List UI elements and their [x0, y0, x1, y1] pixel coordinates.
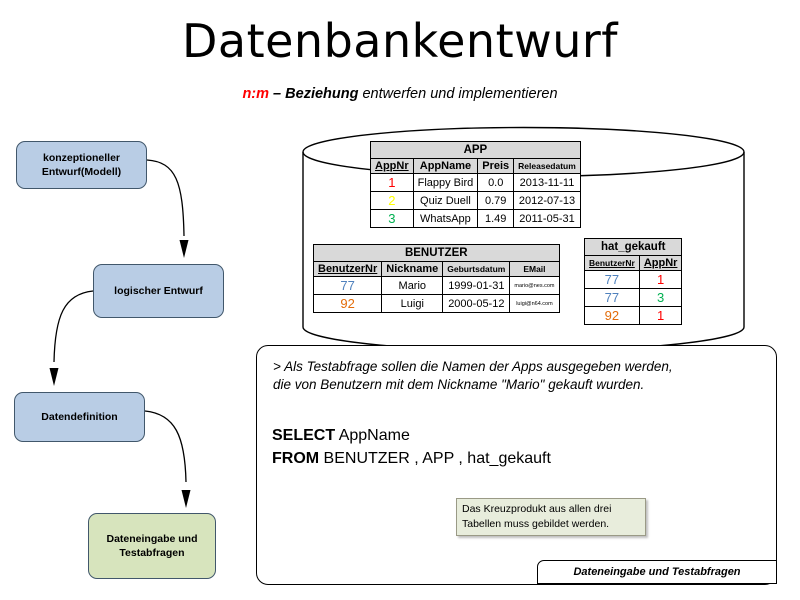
arrowhead-3 [182, 490, 191, 508]
table-row: 92 1 [585, 307, 682, 325]
column-label: BenutzerNr [318, 263, 377, 275]
cell-appnr: 1 [639, 307, 682, 325]
flow-box-label: logischer Entwurf [114, 284, 203, 298]
flow-box-dateneingabe-testabfragen[interactable]: Dateneingabe und Testabfragen [88, 513, 216, 579]
sql-statement: SELECT AppName FROM BENUTZER , APP , hat… [272, 424, 551, 470]
cell-appnr: 3 [371, 210, 414, 228]
cell-appnr: 2 [371, 192, 414, 210]
table-header-row: BenutzerNr Nickname Geburtsdatum EMail [314, 262, 560, 277]
arrowhead-2 [50, 368, 59, 386]
table-caption: hat_gekauft [585, 239, 682, 256]
hint-callout: Das Kreuzprodukt aus allen drei Tabellen… [456, 498, 646, 536]
column-header-appname: AppName [413, 159, 478, 174]
flow-box-label-line1: konzeptioneller [43, 152, 120, 164]
table-row: 1 Flappy Bird 0.0 2013-11-11 [371, 174, 581, 192]
cell-releasedatum: 2012-07-13 [514, 192, 581, 210]
slide-canvas: Datenbankentwurf n:m – Beziehung entwerf… [0, 0, 800, 600]
column-label: AppNr [644, 257, 678, 269]
flow-box-label-line2: Entwurf(Modell) [42, 166, 121, 178]
sql-from-line: FROM BENUTZER , APP , hat_gekauft [272, 447, 551, 470]
column-header-appnr: AppNr [639, 256, 682, 271]
table-header-row: BenutzerNr AppNr [585, 256, 682, 271]
column-header-geburtsdatum: Geburtsdatum [443, 262, 510, 277]
table-caption-row: APP [371, 142, 581, 159]
column-label: AppNr [375, 160, 409, 172]
arrowhead-1 [180, 240, 189, 258]
sql-select-args: AppName [335, 427, 410, 444]
cell-geburtsdatum: 1999-01-31 [443, 277, 510, 295]
cell-email: luigi@n64.com [510, 295, 559, 313]
flow-box-konzeptioneller-entwurf[interactable]: konzeptioneller Entwurf(Modell) [16, 141, 147, 189]
table-row: 2 Quiz Duell 0.79 2012-07-13 [371, 192, 581, 210]
cell-email: mario@nes.com [510, 277, 559, 295]
table-app: APP AppNr AppName Preis Releasedatum 1 F… [370, 141, 581, 228]
table-header-row: AppNr AppName Preis Releasedatum [371, 159, 581, 174]
flow-box-label: Dateneingabe und Testabfragen [106, 532, 197, 560]
sql-keyword-from: FROM [272, 450, 319, 467]
cell-nickname: Mario [382, 277, 443, 295]
callout-line-2: Tabellen muss gebildet werden. [462, 517, 640, 532]
subtitle-rest: entwerfen und implementieren [358, 86, 557, 102]
table-caption-row: hat_gekauft [585, 239, 682, 256]
table-row: 3 WhatsApp 1.49 2011-05-31 [371, 210, 581, 228]
sql-select-line: SELECT AppName [272, 424, 551, 447]
column-header-email: EMail [510, 262, 559, 277]
connector-arrow-2 [54, 291, 93, 362]
cell-appnr: 3 [639, 289, 682, 307]
table-row: 77 3 [585, 289, 682, 307]
panel-footer-label: Dateneingabe und Testabfragen [537, 560, 777, 584]
table-caption: APP [371, 142, 581, 159]
cell-appname: Flappy Bird [413, 174, 478, 192]
cell-benutzernr: 92 [314, 295, 382, 313]
table-caption: BENUTZER [314, 245, 560, 262]
flow-box-datendefinition[interactable]: Datendefinition [14, 392, 145, 442]
cell-benutzernr: 77 [585, 271, 640, 289]
table-hat-gekauft: hat_gekauft BenutzerNr AppNr 77 1 77 3 9… [584, 238, 682, 325]
flow-box-label: Datendefinition [41, 410, 117, 424]
cell-appnr: 1 [371, 174, 414, 192]
cell-benutzernr: 77 [585, 289, 640, 307]
cell-releasedatum: 2013-11-11 [514, 174, 581, 192]
task-line-1: > Als Testabfrage sollen die Namen der A… [273, 358, 743, 376]
page-title: Datenbankentwurf [0, 18, 800, 64]
subtitle-dash: – [269, 86, 285, 102]
cell-benutzernr: 77 [314, 277, 382, 295]
sql-keyword-select: SELECT [272, 427, 335, 444]
table-benutzer: BENUTZER BenutzerNr Nickname Geburtsdatu… [313, 244, 560, 313]
column-header-nickname: Nickname [382, 262, 443, 277]
cell-appname: WhatsApp [413, 210, 478, 228]
sql-from-args: BENUTZER , APP , hat_gekauft [319, 450, 551, 467]
cell-benutzernr: 92 [585, 307, 640, 325]
table-caption-row: BENUTZER [314, 245, 560, 262]
task-description: > Als Testabfrage sollen die Namen der A… [273, 358, 743, 394]
cell-nickname: Luigi [382, 295, 443, 313]
subtitle-beziehung: Beziehung [285, 86, 358, 102]
flow-box-label: konzeptioneller Entwurf(Modell) [42, 151, 121, 179]
cell-appnr: 1 [639, 271, 682, 289]
flow-box-label-line1: Dateneingabe und [106, 533, 197, 545]
table-row: 77 1 [585, 271, 682, 289]
cell-preis: 1.49 [478, 210, 514, 228]
task-line-2: die von Benutzern mit dem Nickname "Mari… [273, 376, 743, 394]
cell-preis: 0.79 [478, 192, 514, 210]
column-header-preis: Preis [478, 159, 514, 174]
column-header-releasedatum: Releasedatum [514, 159, 581, 174]
connector-arrow-1 [147, 160, 184, 236]
subtitle-nm: n:m [242, 86, 269, 102]
column-label: BenutzerNr [589, 258, 635, 268]
table-row: 92 Luigi 2000-05-12 luigi@n64.com [314, 295, 560, 313]
page-subtitle: n:m – Beziehung entwerfen und implementi… [0, 86, 800, 102]
cell-appname: Quiz Duell [413, 192, 478, 210]
column-header-benutzernr: BenutzerNr [314, 262, 382, 277]
connector-arrow-3 [145, 411, 186, 482]
flow-box-label-line2: Testabfragen [119, 547, 184, 559]
column-header-appnr: AppNr [371, 159, 414, 174]
cell-preis: 0.0 [478, 174, 514, 192]
callout-line-1: Das Kreuzprodukt aus allen drei [462, 502, 640, 517]
cell-geburtsdatum: 2000-05-12 [443, 295, 510, 313]
flow-box-logischer-entwurf[interactable]: logischer Entwurf [93, 264, 224, 318]
table-row: 77 Mario 1999-01-31 mario@nes.com [314, 277, 560, 295]
column-header-benutzernr: BenutzerNr [585, 256, 640, 271]
cell-releasedatum: 2011-05-31 [514, 210, 581, 228]
